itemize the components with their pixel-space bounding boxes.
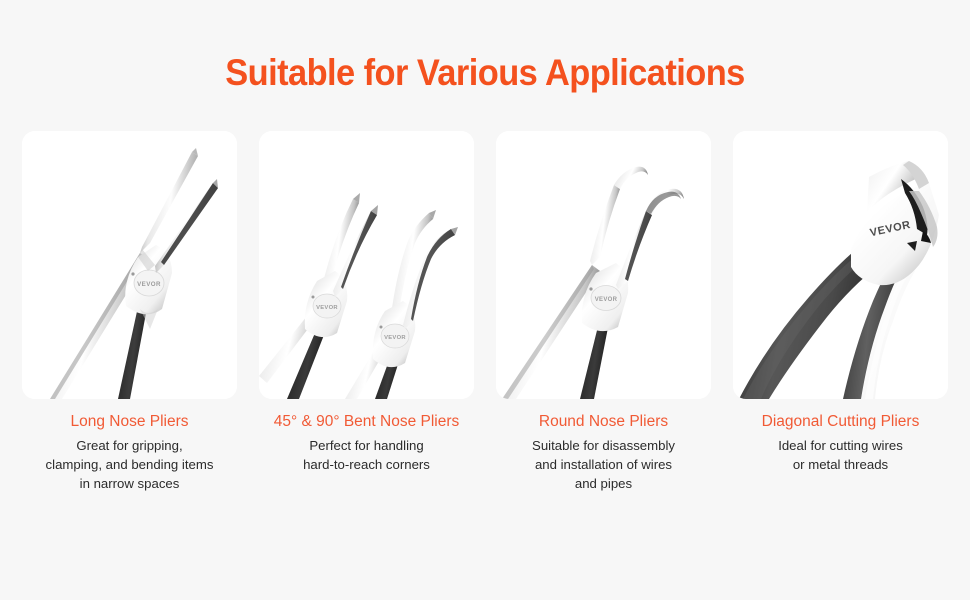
- caption-long-nose: Long Nose Pliers Great for gripping, cla…: [22, 399, 237, 493]
- description-line: or metal threads: [733, 455, 948, 474]
- diagonal-cutting-pliers-icon: VEVOR: [733, 131, 948, 399]
- product-description: Suitable for disassembly and installatio…: [496, 436, 711, 493]
- product-cell-diagonal-cutting[interactable]: VEVOR Diagonal Cutting Pliers Ideal for …: [733, 131, 948, 493]
- description-line: Suitable for disassembly: [496, 436, 711, 455]
- caption-bent-nose: 45° & 90° Bent Nose Pliers Perfect for h…: [259, 399, 474, 474]
- round-nose-pliers-icon: VEVOR: [496, 131, 711, 399]
- description-line: and pipes: [496, 474, 711, 493]
- svg-text:VEVOR: VEVOR: [595, 297, 618, 303]
- bent-nose-pliers-icon: VEVOR VEVOR: [259, 131, 474, 399]
- product-title: Long Nose Pliers: [22, 412, 237, 433]
- svg-text:VEVOR: VEVOR: [316, 305, 338, 311]
- long-nose-pliers-icon: VEVOR: [22, 131, 237, 399]
- page-title: Suitable for Various Applications: [34, 0, 936, 94]
- product-cell-long-nose[interactable]: VEVOR Long Nose Pliers Great for grippin: [22, 131, 237, 493]
- description-line: clamping, and bending items: [22, 455, 237, 474]
- product-title: 45° & 90° Bent Nose Pliers: [259, 412, 474, 433]
- product-cell-bent-nose[interactable]: VEVOR VEVOR: [259, 131, 474, 493]
- product-image-card-long-nose[interactable]: VEVOR: [22, 131, 237, 399]
- product-description: Great for gripping, clamping, and bendin…: [22, 436, 237, 493]
- product-description: Ideal for cutting wires or metal threads: [733, 436, 948, 474]
- description-line: in narrow spaces: [22, 474, 237, 493]
- svg-text:VEVOR: VEVOR: [137, 281, 161, 288]
- product-card-grid: VEVOR Long Nose Pliers Great for grippin: [0, 131, 970, 493]
- product-image-card-bent-nose[interactable]: VEVOR VEVOR: [259, 131, 474, 399]
- product-title: Round Nose Pliers: [496, 412, 711, 433]
- svg-text:VEVOR: VEVOR: [384, 335, 406, 341]
- description-line: Ideal for cutting wires: [733, 436, 948, 455]
- description-line: Perfect for handling: [259, 436, 474, 455]
- product-title: Diagonal Cutting Pliers: [733, 412, 948, 433]
- caption-diagonal-cutting: Diagonal Cutting Pliers Ideal for cuttin…: [733, 399, 948, 474]
- product-image-card-diagonal-cutting[interactable]: VEVOR: [733, 131, 948, 399]
- product-cell-round-nose[interactable]: VEVOR Round Nose Pliers Suitable for dis…: [496, 131, 711, 493]
- promo-banner: Suitable for Various Applications: [0, 0, 970, 600]
- description-line: and installation of wires: [496, 455, 711, 474]
- description-line: Great for gripping,: [22, 436, 237, 455]
- product-description: Perfect for handling hard-to-reach corne…: [259, 436, 474, 474]
- product-image-card-round-nose[interactable]: VEVOR: [496, 131, 711, 399]
- description-line: hard-to-reach corners: [259, 455, 474, 474]
- caption-round-nose: Round Nose Pliers Suitable for disassemb…: [496, 399, 711, 493]
